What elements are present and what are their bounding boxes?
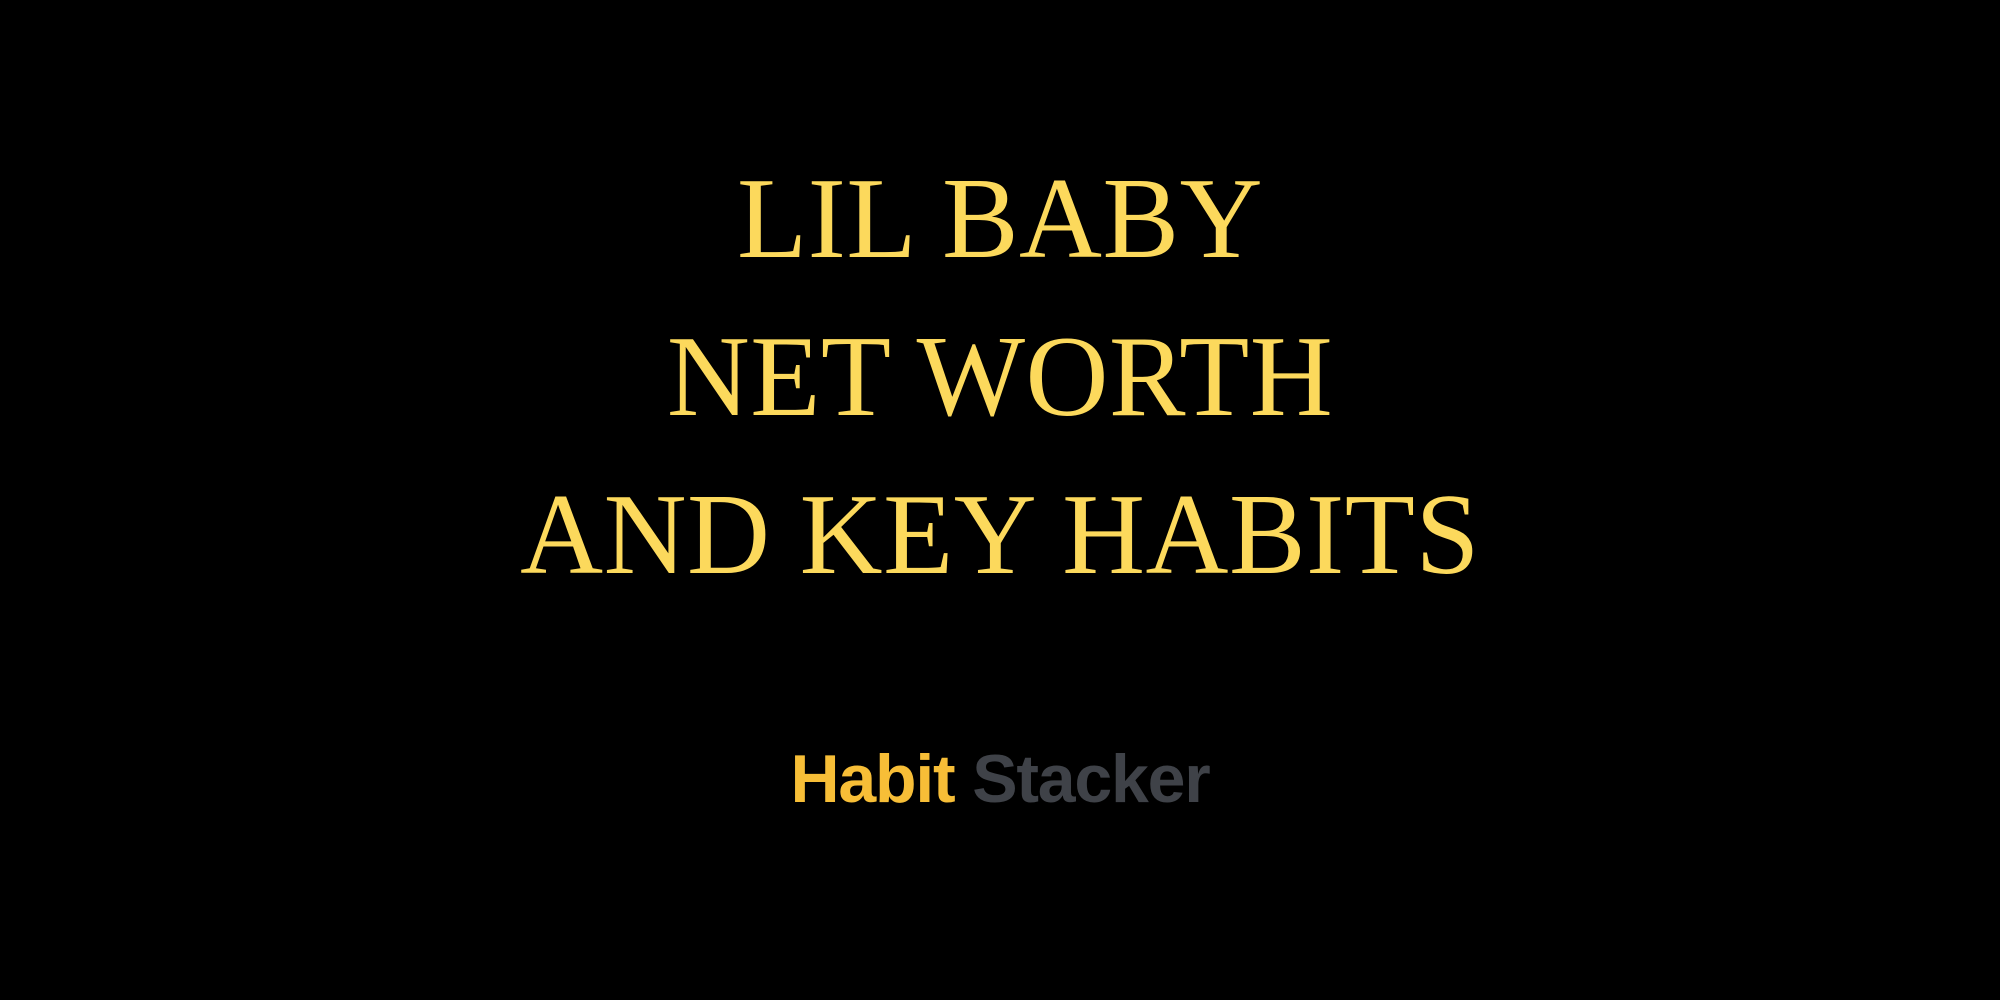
logo-word-separator	[954, 741, 972, 817]
logo-word-habit: Habit	[790, 741, 954, 817]
title-line-2: NET WORTH	[10, 298, 1990, 456]
logo-word-stacker: Stacker	[972, 741, 1209, 817]
title-line-1: LIL BABY	[10, 140, 1990, 298]
habit-stacker-logo: Habit Stacker	[0, 742, 2000, 816]
title-line-3: AND KEY HABITS	[10, 456, 1990, 614]
slide-title: LIL BABY NET WORTH AND KEY HABITS	[0, 140, 2000, 614]
title-slide: LIL BABY NET WORTH AND KEY HABITS Habit …	[0, 0, 2000, 1000]
